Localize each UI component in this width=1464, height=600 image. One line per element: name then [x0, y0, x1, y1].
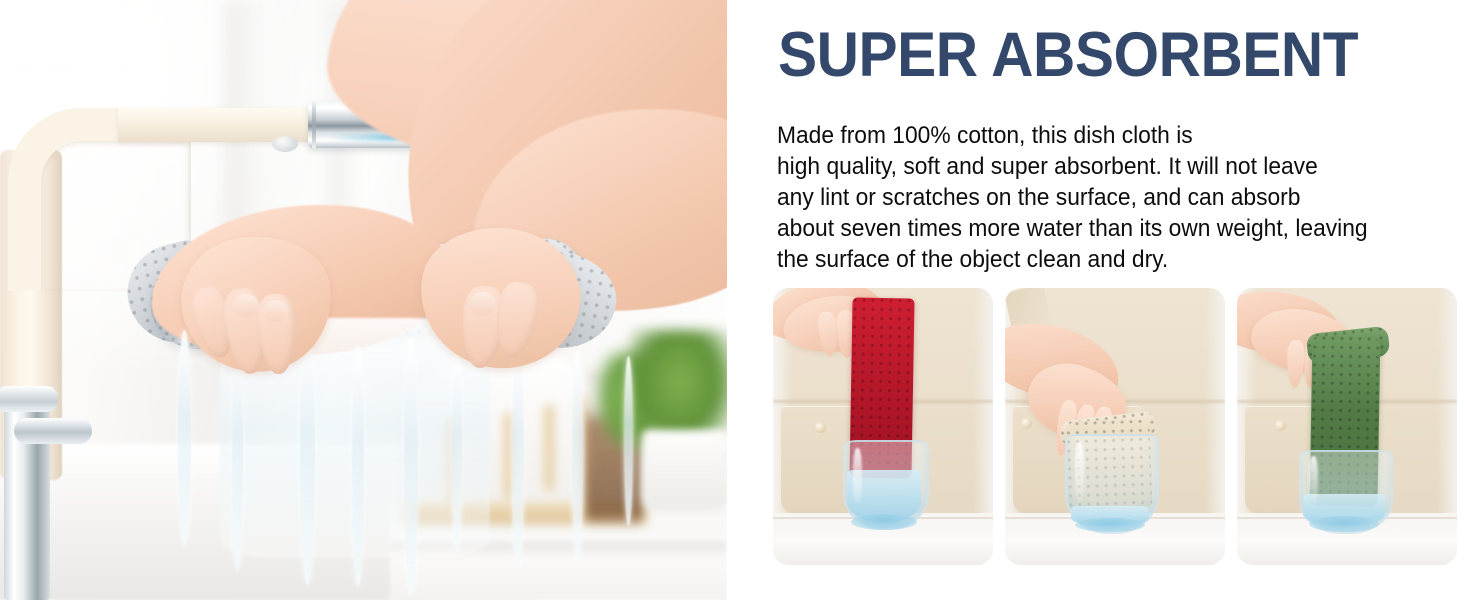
glass-highlight	[853, 448, 862, 504]
glass-highlight	[1309, 456, 1318, 504]
description-line: Made from 100% cotton, this dish cloth i…	[777, 120, 1404, 151]
apron-button	[1021, 418, 1032, 429]
faucet-lever	[14, 418, 92, 444]
glass-highlight	[1075, 442, 1084, 502]
water-stream	[232, 340, 243, 570]
fingernail	[233, 294, 259, 318]
thumbnail-row	[773, 288, 1457, 565]
description-line: high quality, soft and super absorbent. …	[777, 151, 1404, 182]
apron-button	[815, 422, 826, 433]
glass-base	[1075, 518, 1145, 532]
copy-panel: SUPER ABSORBENT Made from 100% cotton, t…	[727, 0, 1464, 600]
water-stream	[624, 356, 633, 526]
thumbnail-green-cloth-lifting[interactable]	[1237, 288, 1457, 565]
wall-edge	[1437, 288, 1457, 528]
water-stream	[178, 330, 191, 545]
glass-base	[851, 514, 917, 530]
wall-edge	[1205, 288, 1225, 528]
rack-peg	[543, 405, 554, 491]
description-line: the surface of the object clean and dry.	[777, 244, 1404, 275]
fingernail	[264, 300, 288, 322]
water-stream	[572, 350, 583, 560]
faucet-spout-seam	[312, 102, 316, 148]
thumbnail-red-cloth-dipping[interactable]	[773, 288, 993, 565]
description-line: any lint or scratches on the surface, an…	[777, 182, 1404, 213]
water-stream	[512, 344, 524, 568]
water-stream	[300, 334, 315, 584]
product-feature-banner: SUPER ABSORBENT Made from 100% cotton, t…	[0, 0, 1464, 600]
fingernail	[470, 292, 496, 316]
wall-edge	[973, 288, 993, 528]
thumbnail-beige-cloth-absorbing[interactable]	[1005, 288, 1225, 565]
faucet-aerator-droplet	[272, 136, 298, 152]
water-stream	[352, 346, 364, 586]
page-title: SUPER ABSORBENT	[778, 24, 1358, 87]
hero-image	[0, 0, 727, 600]
plant-pot	[642, 430, 727, 510]
faucet-base-cap	[0, 386, 58, 412]
water-stream	[452, 352, 462, 552]
glass-base	[1309, 516, 1379, 532]
water-stream	[404, 338, 418, 596]
apron-button	[1275, 420, 1286, 431]
description-line: about seven times more water than its ow…	[777, 213, 1404, 244]
description-text: Made from 100% cotton, this dish cloth i…	[777, 120, 1404, 275]
